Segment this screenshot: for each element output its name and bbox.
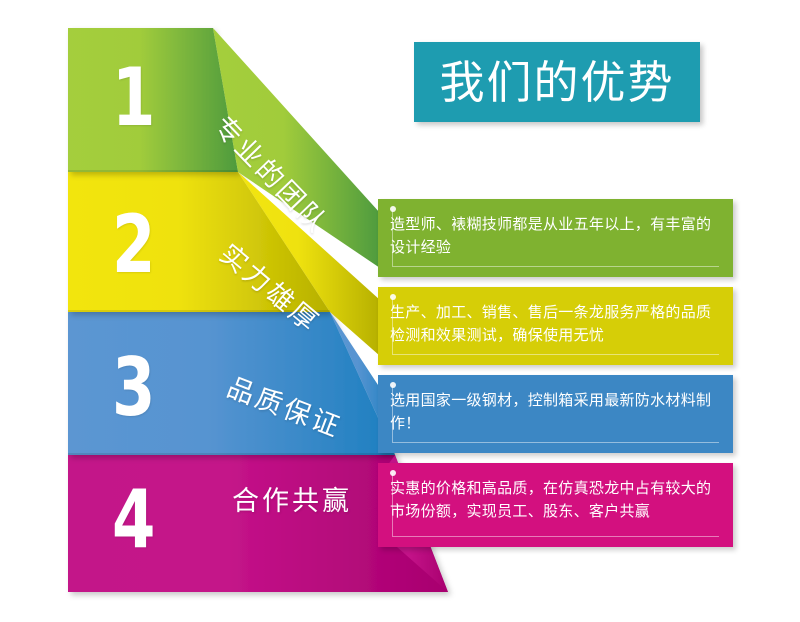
description-panel-4: 实惠的价格和高品质，在仿真恐龙中占有较大的市场份额，实现员工、股东、客户共赢	[378, 463, 733, 547]
headline-text: 我们的优势	[439, 60, 674, 105]
description-panel-3: 选用国家一级钢材，控制箱采用最新防水材料制作！	[378, 375, 733, 453]
description-text-4: 实惠的价格和高品质，在仿真恐龙中占有较大的市场份额，实现员工、股东、客户共赢	[390, 477, 725, 524]
band-caption-4: 合作共赢	[232, 488, 352, 515]
band-number-4: 4	[112, 480, 155, 560]
description-text-2: 生产、加工、销售、售后一条龙服务严格的品质检测和效果测试，确保使用无忧	[390, 301, 725, 348]
bullet-dot-icon	[390, 470, 396, 476]
bullet-dot-icon	[390, 382, 396, 388]
description-text-3: 选用国家一级钢材，控制箱采用最新防水材料制作！	[390, 389, 725, 436]
bullet-dot-icon	[390, 294, 396, 300]
infographic-canvas: 我们的优势 1 2 3 4 专业的团队 实力雄厚 品质保证 合作共赢 造型师、裱…	[0, 0, 800, 622]
band-number-3: 3	[112, 348, 155, 428]
description-panel-1: 造型师、裱糊技师都是从业五年以上，有丰富的设计经验	[378, 199, 733, 277]
description-text-1: 造型师、裱糊技师都是从业五年以上，有丰富的设计经验	[390, 213, 725, 260]
band-divider-3	[68, 453, 395, 455]
description-panel-2: 生产、加工、销售、售后一条龙服务严格的品质检测和效果测试，确保使用无忧	[378, 287, 733, 365]
band-number-1: 1	[112, 58, 155, 138]
headline-banner: 我们的优势	[414, 42, 700, 122]
band-number-2: 2	[112, 205, 155, 285]
bullet-dot-icon	[390, 206, 396, 212]
band-divider-1	[68, 170, 238, 172]
